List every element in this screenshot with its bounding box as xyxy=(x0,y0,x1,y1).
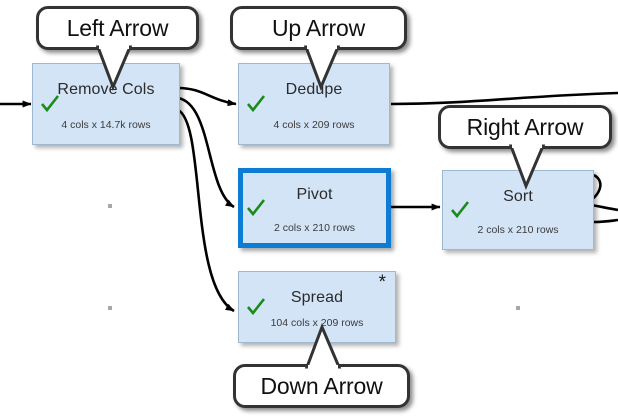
callout-label: Down Arrow xyxy=(261,373,383,400)
callout-pointer-icon xyxy=(303,326,343,368)
callout-up-arrow: Up Arrow xyxy=(230,6,407,50)
callout-label: Right Arrow xyxy=(467,114,584,141)
wire-remove-cols-to-spread xyxy=(178,110,234,311)
callout-pointer-icon xyxy=(302,46,342,88)
wire-remove-cols-to-pivot xyxy=(178,98,234,207)
diagram-canvas: Remove Cols 4 cols x 14.7k rows Dedupe 4… xyxy=(0,0,618,416)
callout-label: Up Arrow xyxy=(272,15,365,42)
node-title: Sort xyxy=(443,188,593,206)
grid-dot xyxy=(516,306,520,310)
wire-dedupe-to-right xyxy=(391,93,618,104)
node-meta: 4 cols x 209 rows xyxy=(239,119,389,131)
callout-down-arrow: Down Arrow xyxy=(233,364,410,408)
node-title: Spread xyxy=(239,289,395,307)
node-meta: 4 cols x 14.7k rows xyxy=(33,119,179,131)
callout-pointer-icon xyxy=(94,46,134,88)
wire-remove-cols-to-dedupe xyxy=(178,88,236,104)
callout-right-arrow: Right Arrow xyxy=(438,105,612,149)
node-pivot[interactable]: Pivot 2 cols x 210 rows xyxy=(238,168,391,248)
callout-pointer-icon xyxy=(507,145,547,187)
callout-label: Left Arrow xyxy=(67,15,169,42)
callout-left-arrow: Left Arrow xyxy=(36,6,199,50)
node-meta: 2 cols x 210 rows xyxy=(443,224,593,236)
node-title: Pivot xyxy=(243,186,386,204)
node-meta: 2 cols x 210 rows xyxy=(243,222,386,234)
grid-dot xyxy=(108,204,112,208)
grid-dot xyxy=(108,306,112,310)
wire-sort-to-right-lower xyxy=(594,220,618,222)
